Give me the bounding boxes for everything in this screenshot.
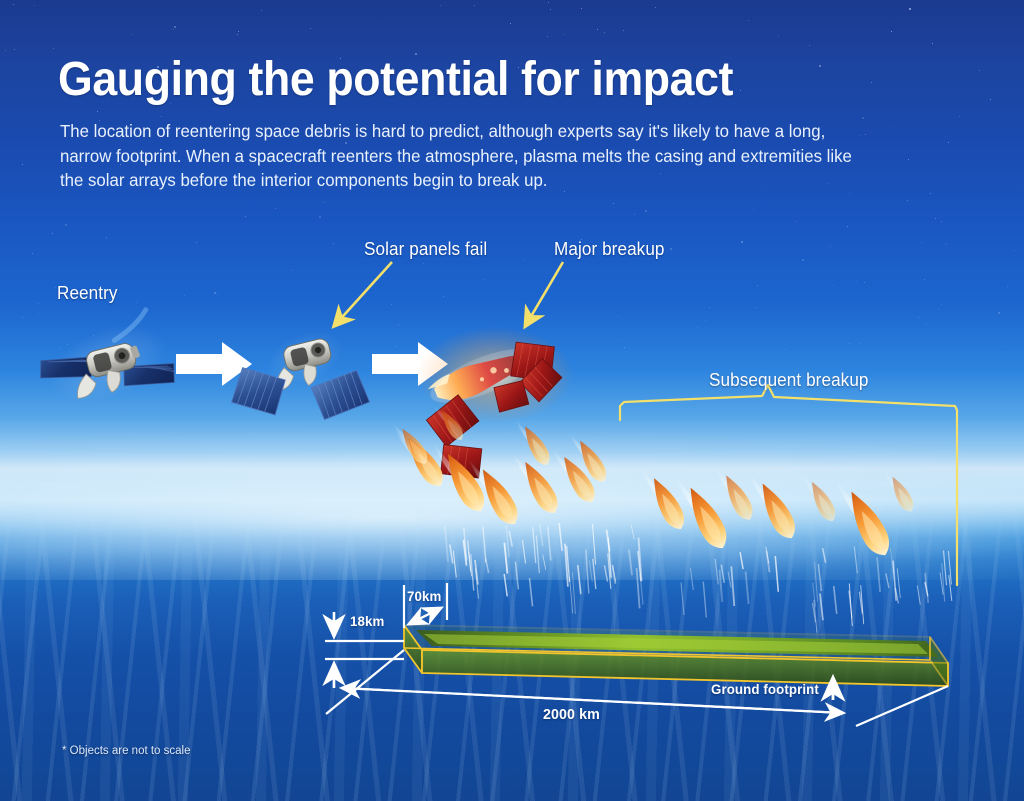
debris-streak [681, 583, 684, 615]
debris-streak [728, 572, 731, 588]
debris-streak [631, 525, 634, 540]
debris-streak [815, 562, 818, 602]
debris-streak [509, 531, 512, 547]
measurement-width: 70km [407, 588, 441, 604]
debris-streak [877, 557, 880, 592]
subsequent-breakup-bracket [620, 385, 957, 585]
debris-streak [548, 527, 551, 561]
debris-streak [445, 526, 448, 562]
debris-streak [453, 551, 456, 578]
debris-streak [450, 545, 453, 564]
debris-streak [559, 523, 562, 551]
flaming-debris [639, 461, 690, 534]
debris-streak [572, 572, 575, 614]
debris-streak [775, 556, 778, 592]
measurement-height: 18km [350, 613, 384, 629]
debris-streak [589, 560, 592, 581]
debris-streak [533, 527, 536, 563]
flaming-debris [746, 465, 801, 543]
label-reentry: Reentry [57, 283, 118, 304]
debris-streak [586, 550, 589, 594]
debris-streak [605, 565, 608, 581]
debris-streak [740, 552, 743, 569]
solar-panels-pointer [335, 262, 392, 325]
debris-streak [715, 559, 718, 585]
debris-streak [629, 550, 632, 576]
debris-streak [506, 526, 509, 557]
debris-streak [897, 568, 900, 598]
flaming-debris [391, 416, 432, 467]
debris-streak [536, 535, 539, 573]
debris-streak [543, 555, 546, 570]
flaming-debris [713, 460, 758, 524]
major-breakup-cluster [417, 327, 573, 483]
debris-streak [540, 524, 543, 546]
debris-streak [820, 594, 823, 621]
debris-streak [504, 543, 507, 574]
debris-streak [486, 559, 489, 573]
satellite-intact [31, 307, 180, 425]
debris-streak [893, 561, 896, 601]
label-major-breakup: Major breakup [554, 239, 665, 260]
debris-streak [886, 573, 889, 588]
flaming-debris [513, 413, 554, 469]
label-ground-footprint: Ground footprint [711, 681, 819, 697]
page-title: Gauging the potential for impact [58, 56, 733, 104]
debris-streak [944, 551, 947, 586]
debris-streak [530, 578, 533, 606]
major-breakup-pointer [526, 262, 563, 325]
debris-streak [607, 530, 610, 552]
debris-streak [690, 568, 693, 590]
debris-streak [834, 586, 837, 614]
debris-streak [942, 563, 945, 601]
flaming-debris [800, 468, 839, 524]
debris-streak [523, 540, 526, 564]
debris-streak [578, 565, 581, 594]
debris-streak [818, 564, 821, 591]
debris-streak [746, 572, 749, 604]
debris-streak [703, 582, 706, 618]
debris-streak [483, 527, 486, 563]
debris-streak [731, 566, 734, 606]
satellite-panels-failing [228, 322, 371, 421]
debris-field-subsequent [639, 460, 917, 561]
label-subsequent-breakup: Subsequent breakup [709, 370, 869, 391]
label-solar-panels-fail: Solar panels fail [364, 239, 487, 260]
page-deck: The location of reentering space debris … [60, 119, 859, 193]
debris-streak [593, 524, 596, 565]
debris-streak [854, 547, 857, 574]
debris-streak [570, 577, 573, 614]
debris-streak [719, 570, 722, 602]
flaming-debris [882, 465, 917, 515]
debris-streak [721, 565, 724, 583]
debris-streak [637, 568, 640, 609]
footnote: * Objects are not to scale [62, 745, 190, 757]
debris-streak [515, 562, 518, 590]
infographic-canvas: Gauging the potential for impact The loc… [0, 0, 1024, 801]
debris-streak [504, 574, 507, 596]
measurement-length: 2000 km [543, 706, 600, 723]
ground-footprint-slab [404, 625, 948, 686]
debris-streak [917, 585, 920, 604]
debris-streak [823, 548, 826, 563]
flaming-debris [832, 470, 896, 561]
